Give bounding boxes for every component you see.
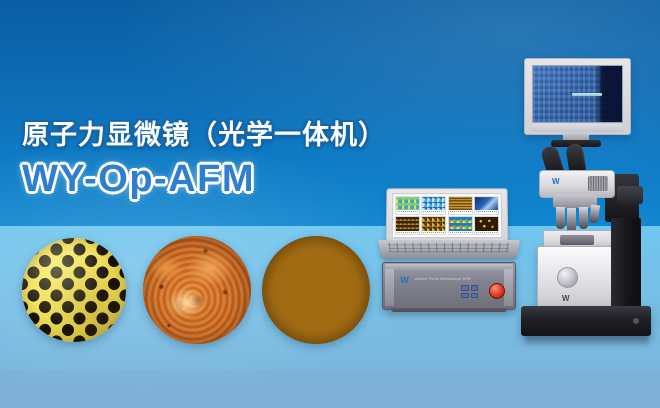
controller-button[interactable] (461, 285, 469, 291)
power-knob[interactable] (489, 283, 505, 299)
scan-thumbnail (395, 216, 420, 235)
scan-thumbnail (421, 216, 446, 235)
control-laptop (378, 188, 520, 266)
objective-lens (556, 207, 565, 229)
controller-top-edge (385, 264, 513, 270)
afm-controller-unit: W Atomic Force Microscope AFM (382, 262, 514, 314)
controller-front-panel: W Atomic Force Microscope AFM (382, 262, 516, 310)
controller-panel-label: Atomic Force Microscope AFM (415, 277, 471, 281)
background-bottom-band (0, 370, 660, 408)
focus-knurl[interactable] (588, 176, 608, 191)
monitor-screen (532, 65, 623, 123)
circle-vignette (262, 236, 370, 344)
controller-button[interactable] (461, 293, 469, 299)
scan-thumbnail (474, 196, 499, 215)
controller-reflection (388, 312, 508, 321)
sample-circle-dot-array (22, 238, 126, 342)
controller-button-grid[interactable] (461, 285, 478, 298)
scan-thumbnail (474, 216, 499, 235)
page-title: 原子力显微镜（光学一体机） (22, 120, 452, 151)
head-brand-mark: W (552, 177, 560, 186)
scanner-brand-mark: W (562, 294, 570, 303)
laptop-screen (392, 193, 502, 238)
circle-vignette (22, 238, 126, 342)
headline-block: 原子力显微镜（光学一体机） WY-Op-AFM (22, 120, 452, 198)
monitor-bezel-chin (532, 124, 623, 132)
granite-base (521, 306, 651, 336)
sample-circle-terrace (143, 236, 251, 344)
objective-lens (579, 207, 588, 229)
controller-left-rail (385, 269, 394, 306)
scan-thumbnail (448, 216, 473, 235)
objective-lens (589, 205, 600, 224)
scan-thumbnail (421, 196, 446, 215)
granite-reflection (525, 335, 649, 347)
keyboard-keys (388, 243, 509, 253)
banner-stage: 原子力显微镜（光学一体机） WY-Op-AFM (0, 0, 660, 408)
laptop-keyboard (378, 240, 520, 259)
circle-vignette (143, 236, 251, 344)
monitor-sample-feature (572, 93, 602, 96)
scanner-adjust-knob[interactable] (557, 267, 578, 288)
controller-button[interactable] (471, 285, 479, 291)
controller-button[interactable] (471, 293, 479, 299)
lcd-monitor (524, 58, 631, 135)
controller-brand-mark: W (398, 275, 411, 286)
sample-circle-granular (262, 236, 370, 344)
afm-scanner-head: W (537, 246, 617, 310)
scan-thumbnail (448, 196, 473, 215)
microscope-column (611, 218, 641, 310)
scan-thumbnail (395, 196, 420, 215)
microscope-arm-module (617, 186, 643, 204)
optical-afm-microscope: W W (505, 58, 655, 340)
